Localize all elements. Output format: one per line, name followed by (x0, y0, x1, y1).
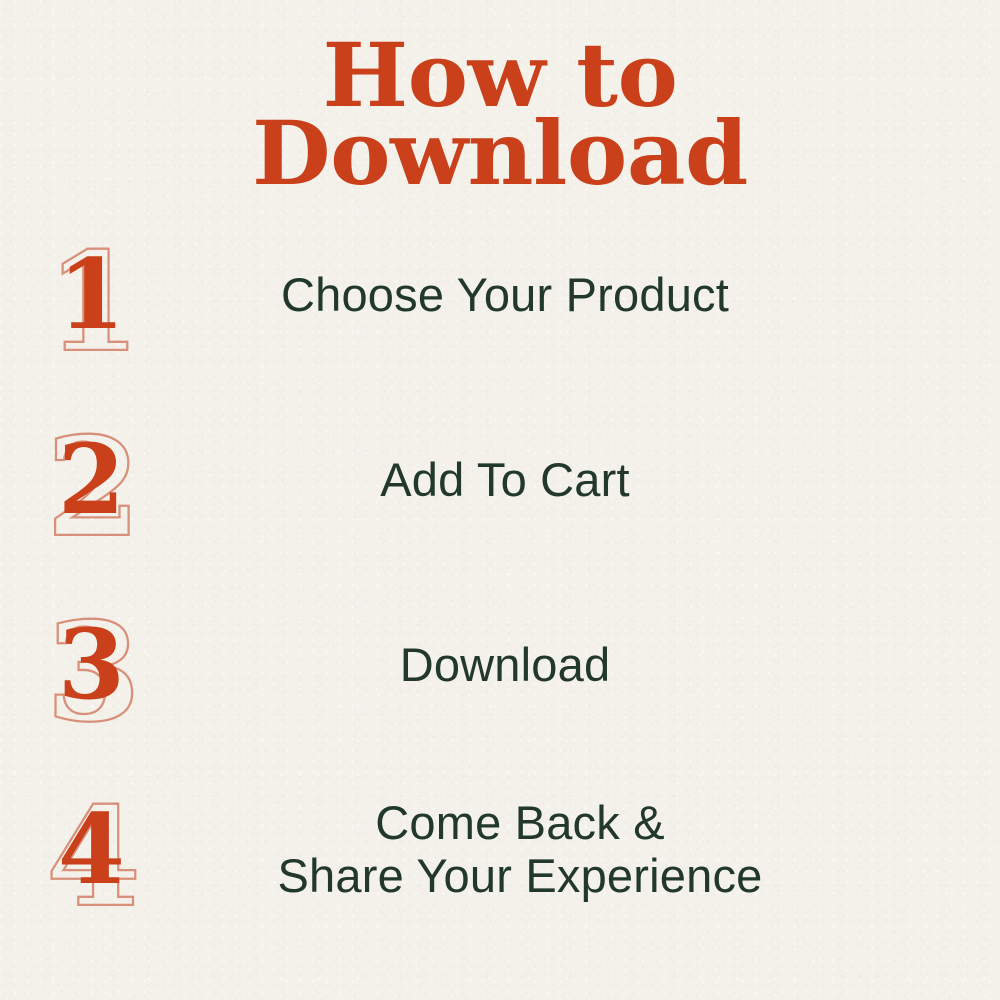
step-label-3-line-1: Download (150, 639, 860, 692)
step-label-4-line-1: Come Back & (150, 797, 890, 850)
step-item-1: 1 1 Choose Your Product (0, 220, 1000, 370)
step-number-3: 3 3 (0, 590, 150, 740)
step-number-4: 4 4 (0, 775, 150, 925)
page-title-line-2: Download (0, 116, 1000, 192)
step-label-4-line-2: Share Your Experience (150, 850, 890, 903)
step-item-3: 3 3 Download (0, 590, 1000, 740)
step-label-1: Choose Your Product (150, 269, 1000, 322)
step-number-1-fill: 1 (58, 220, 125, 370)
how-to-download-poster: How to Download 1 1 Choose Your Product … (0, 0, 1000, 1000)
step-item-4: 4 4 Come Back & Share Your Experience (0, 775, 1000, 925)
step-number-1: 1 1 (0, 220, 150, 370)
step-item-2: 2 2 Add To Cart (0, 405, 1000, 555)
steps-list: 1 1 Choose Your Product 2 2 Add To Cart … (0, 220, 1000, 940)
step-label-1-line-1: Choose Your Product (150, 269, 860, 322)
step-number-4-fill: 4 (58, 775, 125, 925)
step-number-2: 2 2 (0, 405, 150, 555)
step-label-2-line-1: Add To Cart (150, 454, 860, 507)
step-label-3: Download (150, 639, 1000, 692)
page-title: How to Download (0, 38, 1000, 191)
step-number-3-fill: 3 (58, 590, 125, 740)
step-label-4: Come Back & Share Your Experience (150, 797, 1000, 902)
step-label-2: Add To Cart (150, 454, 1000, 507)
step-number-2-fill: 2 (58, 405, 125, 555)
